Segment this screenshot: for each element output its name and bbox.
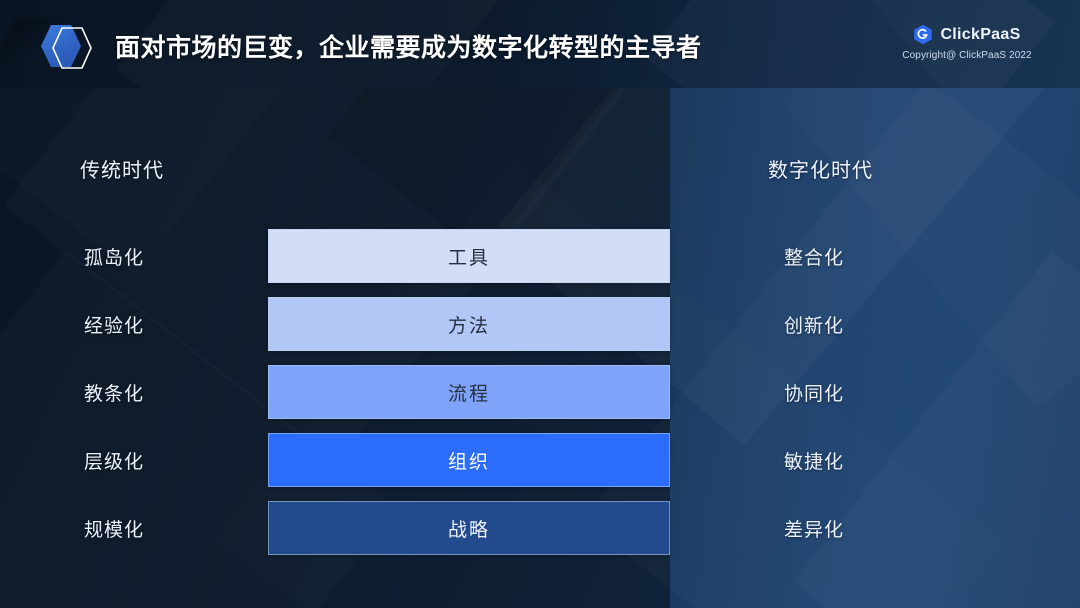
clickpaas-hexagon-icon bbox=[913, 24, 933, 45]
comparison-row: 孤岛化工具整合化 bbox=[0, 229, 1080, 283]
capability-bar[interactable]: 组织 bbox=[268, 433, 670, 487]
slide-root: 面对市场的巨变，企业需要成为数字化转型的主导者 ClickPaaS Copyri… bbox=[0, 0, 1080, 608]
capability-bar[interactable]: 工具 bbox=[268, 229, 670, 283]
row-label-digital: 协同化 bbox=[784, 365, 844, 419]
row-label-traditional: 孤岛化 bbox=[84, 229, 144, 283]
row-label-traditional: 规模化 bbox=[84, 501, 144, 555]
row-label-digital: 整合化 bbox=[784, 229, 844, 283]
hexagon-logo-icon bbox=[41, 22, 93, 70]
hexagon-outline-icon bbox=[52, 27, 92, 69]
capability-bar[interactable]: 方法 bbox=[268, 297, 670, 351]
comparison-row: 经验化方法创新化 bbox=[0, 297, 1080, 351]
capability-bar[interactable]: 战略 bbox=[268, 501, 670, 555]
page-title: 面对市场的巨变，企业需要成为数字化转型的主导者 bbox=[115, 28, 702, 64]
row-label-traditional: 教条化 bbox=[84, 365, 144, 419]
row-label-traditional: 经验化 bbox=[84, 297, 144, 351]
slide-content: 传统时代 数字化时代 孤岛化工具整合化经验化方法创新化教条化流程协同化层级化组织… bbox=[0, 88, 1080, 608]
row-label-traditional: 层级化 bbox=[84, 433, 144, 487]
comparison-row: 教条化流程协同化 bbox=[0, 365, 1080, 419]
comparison-row: 规模化战略差异化 bbox=[0, 501, 1080, 555]
copyright-text: Copyright@ ClickPaaS 2022 bbox=[892, 50, 1042, 61]
row-label-digital: 敏捷化 bbox=[784, 433, 844, 487]
row-label-digital: 创新化 bbox=[784, 297, 844, 351]
comparison-rows: 孤岛化工具整合化经验化方法创新化教条化流程协同化层级化组织敏捷化规模化战略差异化 bbox=[0, 88, 1080, 608]
capability-bar[interactable]: 流程 bbox=[268, 365, 670, 419]
comparison-row: 层级化组织敏捷化 bbox=[0, 433, 1080, 487]
brand-block: ClickPaaS Copyright@ ClickPaaS 2022 bbox=[892, 24, 1042, 61]
slide-header: 面对市场的巨变，企业需要成为数字化转型的主导者 ClickPaaS Copyri… bbox=[0, 0, 1080, 88]
brand-name: ClickPaaS bbox=[940, 26, 1020, 44]
row-label-digital: 差异化 bbox=[784, 501, 844, 555]
